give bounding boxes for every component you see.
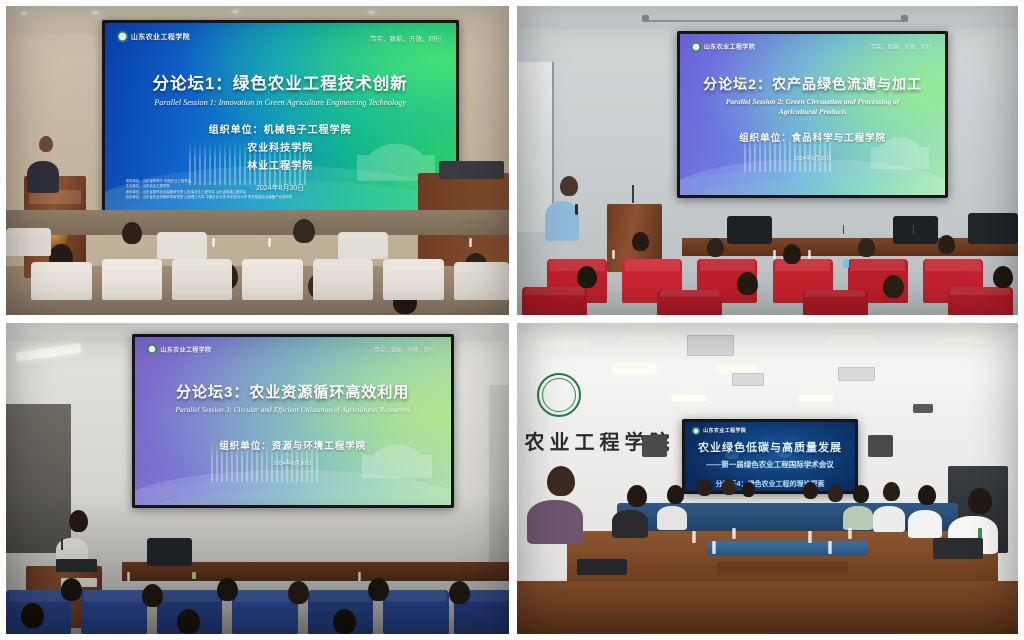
slide-slogan-3: 笃实、致新、开放、同行 [374,346,435,354]
slide-logo-text-1: 山东农业工程学院 [131,32,190,42]
microphone-icon-2 [575,204,578,215]
university-logo-icon-4 [692,427,700,435]
slide-logo-text-3: 山东农业工程学院 [160,345,211,354]
slide-subtitle-1: Parallel Session 1: Innovation in Green … [105,98,456,107]
photo-panel-1: 山东农业工程学院 笃实、致新、开放、同行 分论坛1：绿色农业工程技术创新 Par… [6,6,509,315]
speaker-head-3 [69,510,88,532]
slide-title-2: 分论坛2：农产品绿色流通与加工 [680,74,945,94]
photo-panel-2: 山东农业工程学院 笃实、致新、开放、同行 分论坛2：农产品绿色流通与加工 Par… [517,6,1018,315]
speaker-head-1 [39,136,53,152]
presentation-screen-2: 山东农业工程学院 笃实、致新、开放、同行 分论坛2：农产品绿色流通与加工 Par… [677,31,948,198]
presentation-screen-1: 山东农业工程学院 笃实、致新、开放、同行 分论坛1：绿色农业工程技术创新 Par… [102,20,459,215]
photo-panel-4: 农业工程学院 山东农业工程学院 农业绿色低碳与高质量发展 ——第一届 [517,323,1018,634]
slide-title-3: 分论坛3：农业资源循环高效利用 [135,381,451,402]
photo-collage: 山东农业工程学院 笃实、致新、开放、同行 分论坛1：绿色农业工程技术创新 Par… [0,0,1024,640]
slide-subtitle-4: ——第一届绿色农业工程国际学术会议 [685,459,854,470]
slide-title-4: 农业绿色低碳与高质量发展 [685,439,854,455]
slide-slogan-1: 笃实、致新、开放、同行 [370,33,442,43]
slide-organizer-1-line2: 农业科技学院 [105,139,456,154]
presentation-screen-3: 山东农业工程学院 笃实、致新、开放、同行 分论坛3：农业资源循环高效利用 Par… [132,334,454,508]
phone-screen-icon-2 [843,259,849,268]
speaker-head-2 [560,176,578,196]
university-logo-icon-2 [691,42,701,52]
university-logo-icon-1 [117,31,128,42]
university-logo-icon-3 [147,344,157,354]
slide-date-3: 2024年8月30日 [135,459,451,467]
slide-fineprint-1-3: 协办单位：山东省农业机械科学研究院 山东理工大学 中国农业大学 华中农业大学 青… [126,195,435,200]
university-emblem-icon-4 [537,373,581,417]
slide-logo-text-4: 山东农业工程学院 [703,427,746,434]
slide-date-2: 2024年8月30日 [680,154,945,162]
speaker-body-1 [27,161,59,193]
slide-slogan-2: 笃实、致新、开放、同行 [871,43,932,51]
slide-organizer-3: 组织单位：资源与环境工程学院 [135,438,451,452]
laptop-icon-4 [933,538,983,560]
slide-organizer-1-line3: 林业工程学院 [105,157,456,172]
photo-panel-3: 山东农业工程学院 笃实、致新、开放、同行 分论坛3：农业资源循环高效利用 Par… [6,323,509,634]
slide-subtitle-3: Parallel Session 3: Circular and Efficie… [135,405,451,414]
laptop-icon-3 [56,559,96,571]
slide-organizer-1: 组织单位：机械电子工程学院 [105,121,456,136]
slide-title-1: 分论坛1：绿色农业工程技术创新 [105,70,456,94]
slide-logo-text-2: 山东农业工程学院 [704,42,755,51]
slide-subtitle-2: Parallel Session 2: Green Circulation an… [717,97,907,117]
speaker-body-2 [545,201,579,241]
slide-organizer-2: 组织单位：食品科学与工程学院 [680,130,945,144]
